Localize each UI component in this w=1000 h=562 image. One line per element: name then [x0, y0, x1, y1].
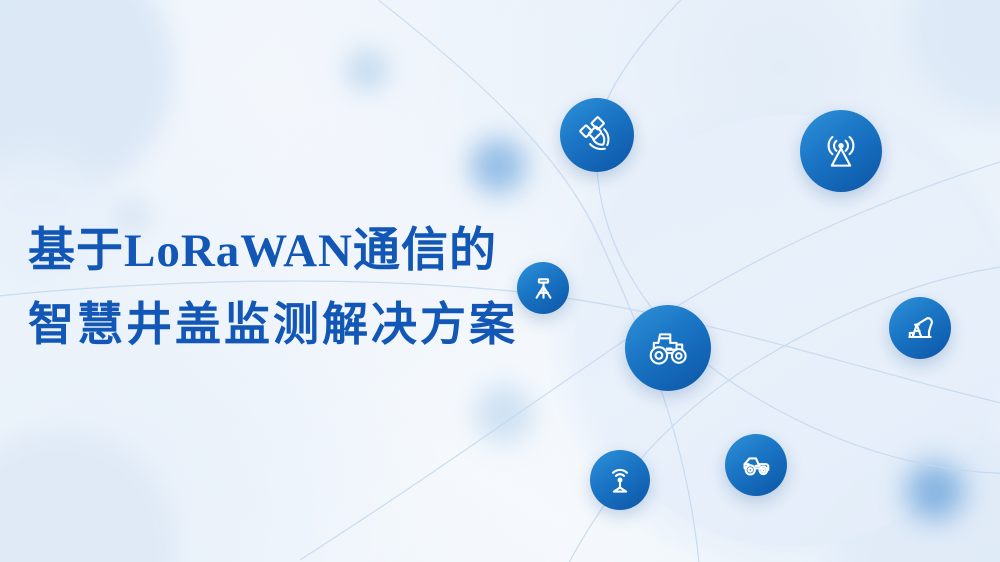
sensor-node-icon: [603, 463, 637, 497]
cover-title: 基于LoRaWAN通信的 智慧井盖监测解决方案: [28, 228, 588, 347]
title-line-1: 基于LoRaWAN通信的: [28, 228, 588, 275]
radio-tower-icon: [818, 128, 864, 174]
tractor-icon: [643, 323, 693, 373]
blob-top-right: [905, 0, 1000, 120]
node-harvester[interactable]: [725, 434, 787, 496]
dot-center: [474, 384, 534, 444]
node-oil-pumpjack[interactable]: [889, 297, 951, 359]
dot-upper-mid: [470, 138, 526, 194]
blob-top-left: [0, 0, 175, 200]
blob-bottom-right: [835, 430, 1000, 562]
slide-canvas: 基于LoRaWAN通信的 智慧井盖监测解决方案: [0, 0, 1000, 562]
blob-bottom-left: [0, 432, 175, 562]
node-sensor[interactable]: [590, 450, 650, 510]
node-radio-tower[interactable]: [800, 110, 882, 192]
node-satellite[interactable]: [560, 98, 634, 172]
node-tractor[interactable]: [625, 305, 711, 391]
oil-pumpjack-icon: [902, 310, 938, 346]
dot-lower-right: [906, 462, 964, 520]
dot-top: [345, 48, 389, 92]
satellite-icon: [576, 114, 618, 156]
harvester-icon: [738, 447, 774, 483]
title-line-2: 智慧井盖监测解决方案: [28, 301, 588, 347]
